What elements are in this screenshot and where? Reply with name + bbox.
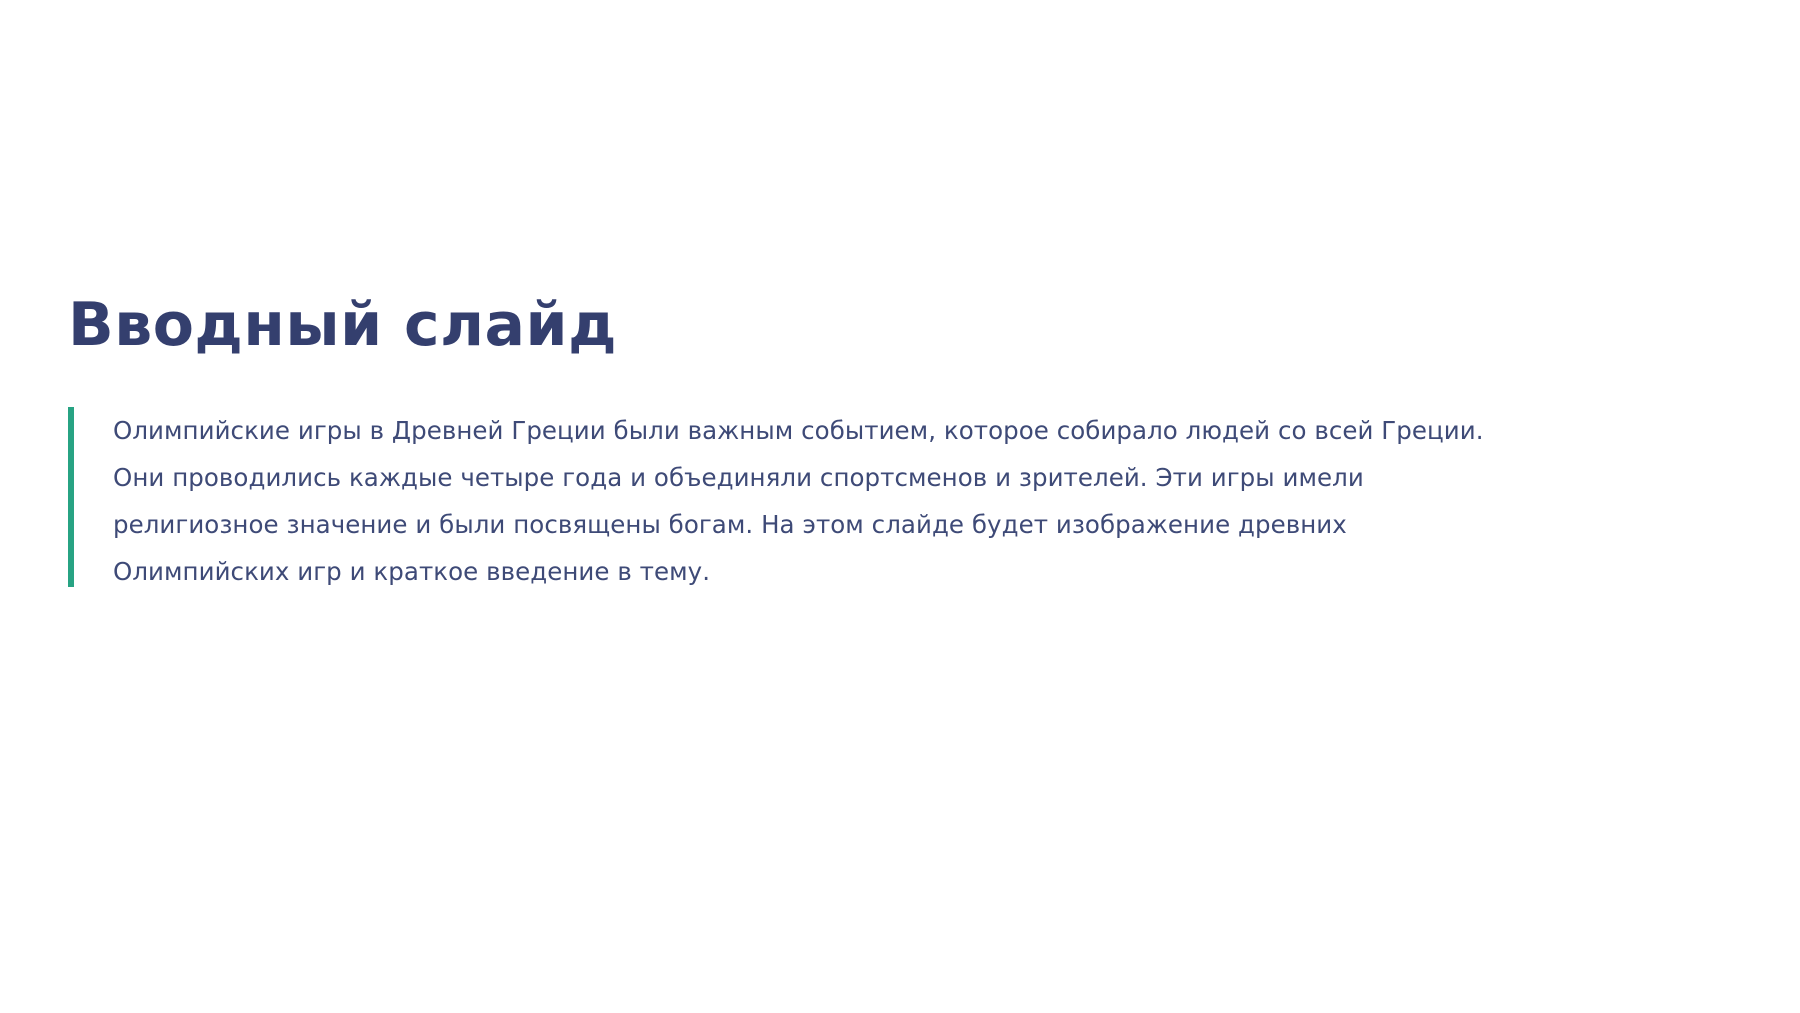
presentation-slide: Вводный слайд Олимпийские игры в Древней… <box>0 0 1800 1013</box>
slide-body-paragraph: Олимпийские игры в Древней Греции были в… <box>113 407 1513 595</box>
slide-content-area: Вводный слайд Олимпийские игры в Древней… <box>68 292 1728 595</box>
body-text-block: Олимпийские игры в Древней Греции были в… <box>68 407 1728 595</box>
accent-bar <box>68 407 74 587</box>
page-title: Вводный слайд <box>68 292 1728 359</box>
